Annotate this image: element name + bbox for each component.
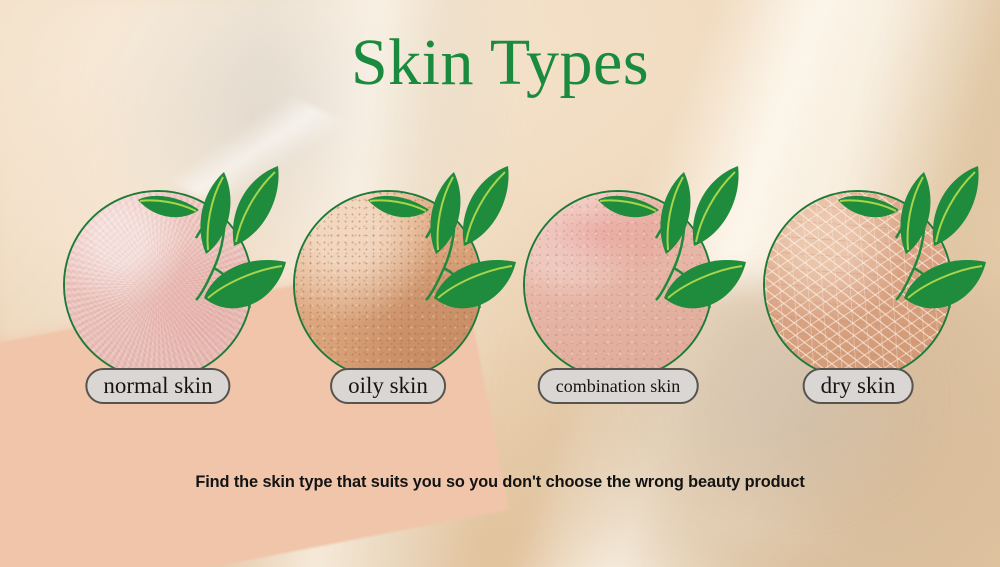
skin-type-card-dry[interactable]: dry skin — [728, 150, 988, 400]
skin-type-label[interactable]: normal skin — [85, 368, 230, 404]
skin-sample-circle — [763, 190, 953, 380]
skin-texture-oily — [295, 192, 481, 378]
footer-caption: Find the skin type that suits you so you… — [20, 472, 980, 492]
skin-type-label[interactable]: combination skin — [538, 368, 699, 404]
skin-type-card-oily[interactable]: oily skin — [258, 150, 518, 400]
skin-texture-combination — [525, 192, 711, 378]
skin-sample-circle — [523, 190, 713, 380]
skin-type-card-normal[interactable]: normal skin — [28, 150, 288, 400]
skin-type-card-combination[interactable]: combination skin — [488, 150, 748, 400]
skin-type-label[interactable]: oily skin — [330, 368, 446, 404]
skin-sample-circle — [63, 190, 253, 380]
page-title: Skin Types — [0, 30, 1000, 96]
infographic-canvas: Skin Types — [0, 0, 1000, 567]
skin-type-label[interactable]: dry skin — [803, 368, 914, 404]
skin-sample-circle — [293, 190, 483, 380]
skin-texture-dry — [765, 192, 951, 378]
skin-texture-normal — [65, 192, 251, 378]
